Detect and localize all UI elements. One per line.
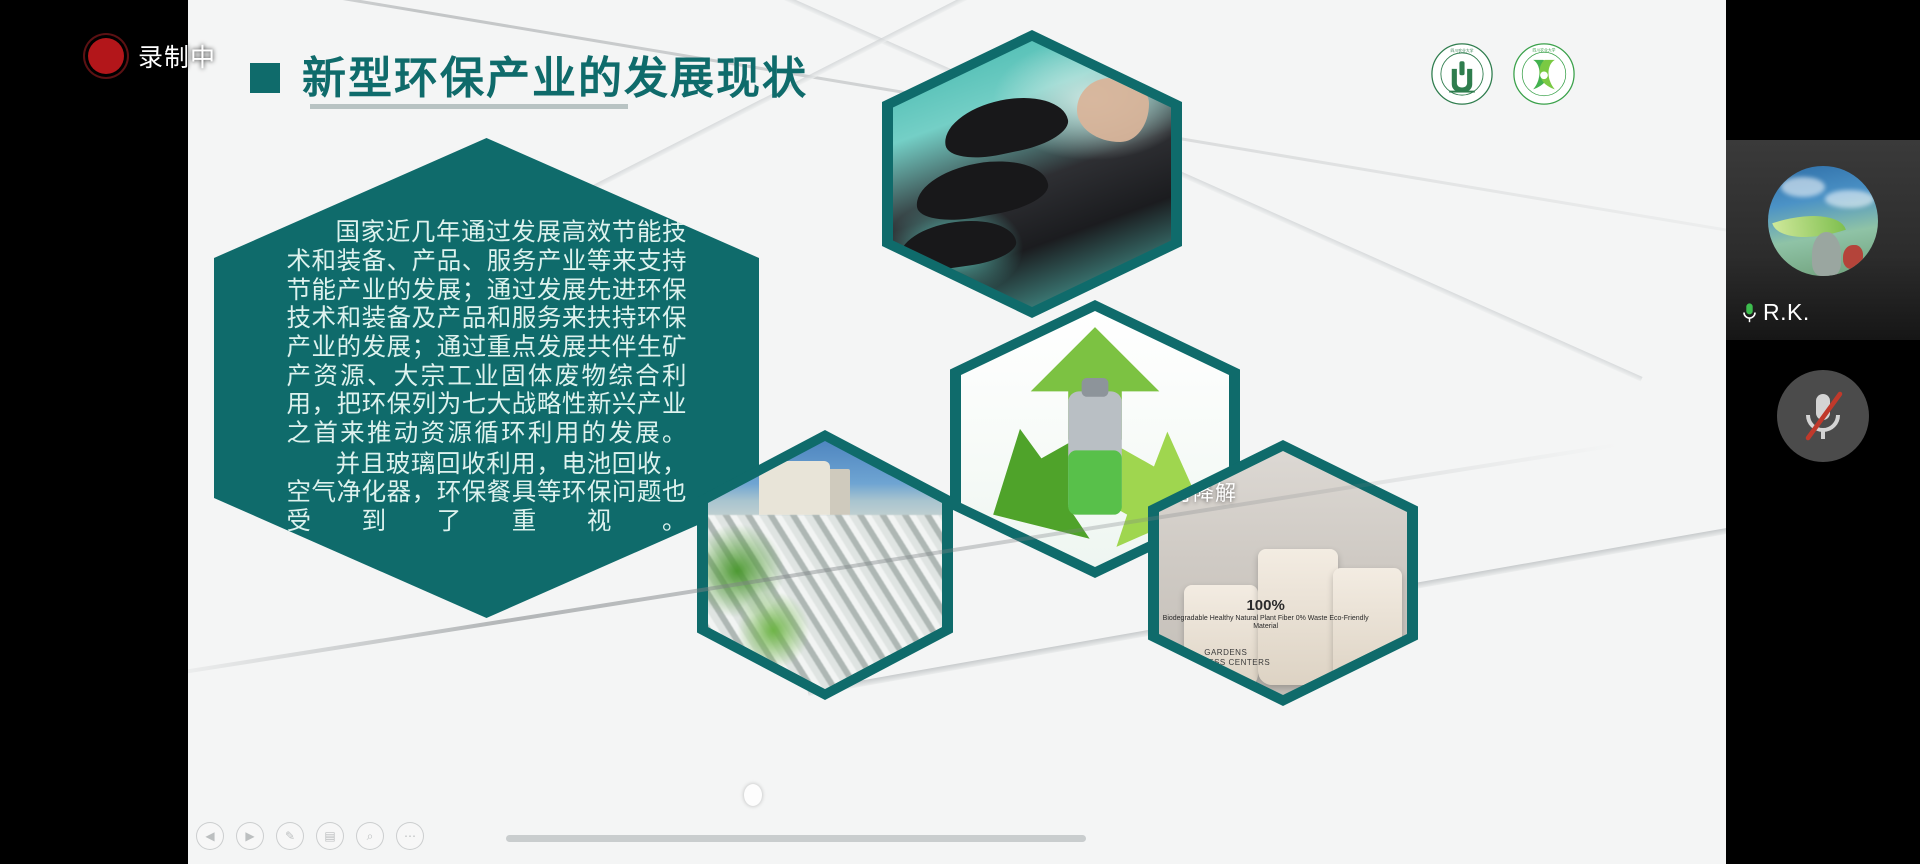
more-options-button[interactable]: ⋯ [396, 822, 424, 850]
mic-muted-icon [1798, 388, 1848, 444]
participant-avatar [1768, 166, 1878, 276]
slide-panel-button[interactable]: ▤ [316, 822, 344, 850]
slide-body-text: 国家近几年通过发展高效节能技术和装备、产品、服务产业等来支持节能产业的发展；通过… [287, 219, 687, 536]
cup-brand-label: GARDENS BUSINESS CENTERS [1181, 648, 1270, 668]
mic-unmuted-icon [1742, 302, 1757, 324]
participant-name-row: R.K. [1742, 299, 1810, 326]
recording-indicator: 录制中 [88, 38, 216, 74]
slide-text-hexagon: 国家近几年通过发展高效节能技术和装备、产品、服务产业等来支持节能产业的发展；通过… [214, 138, 759, 618]
university-logos: 四川农业大学 四川农业大学 [1430, 42, 1576, 106]
shared-bikes-photo [893, 41, 1171, 307]
play-button[interactable]: ▶ [236, 822, 264, 850]
biodegradable-cups-photo: 100% Biodegradable Healthy Natural Plant… [1159, 451, 1407, 695]
glass-recycling-photo-hexagon [697, 430, 953, 700]
university-logo-1-icon: 四川农业大学 [1430, 42, 1494, 106]
participant-tile[interactable]: R.K. [1726, 140, 1920, 340]
record-dot-icon [88, 38, 124, 74]
svg-text:四川农业大学: 四川农业大学 [1533, 48, 1556, 53]
slide-paragraph: 国家近几年通过发展高效节能技术和装备、产品、服务产业等来支持节能产业的发展；通过… [287, 219, 687, 448]
slide-title: 新型环保产业的发展现状 [302, 42, 808, 106]
biodegradable-cups-photo-hexagon: 100% Biodegradable Healthy Natural Plant… [1148, 440, 1418, 706]
shared-bikes-photo-hexagon [882, 30, 1182, 318]
zoom-screen-share-window: 录制中 新型环保产业的发展现状 四川农业大学 [0, 0, 1920, 864]
recording-label: 录制中 [138, 38, 216, 74]
university-logo-2-icon: 四川农业大学 [1512, 42, 1576, 106]
slide-title-row: 新型环保产业的发展现状 [250, 42, 808, 106]
slide-progress-marker [744, 784, 762, 806]
pen-tool-button[interactable]: ✎ [276, 822, 304, 850]
presentation-slide: 新型环保产业的发展现状 四川农业大学 四川农业大学 [188, 0, 1726, 864]
biodegradable-caption: 可降解 [1171, 477, 1237, 507]
participant-name: R.K. [1763, 299, 1810, 326]
previous-slide-button[interactable]: ◀ [196, 822, 224, 850]
video-rail: R.K. [1726, 0, 1920, 864]
zoom-button[interactable]: ⌕ [356, 822, 384, 850]
slide-paragraph: 并且玻璃回收利用，电池回收，空气净化器，环保餐具等环保问题也受到了重视。 [287, 451, 687, 537]
cup-percent-label: 100% Biodegradable Healthy Natural Plant… [1159, 597, 1372, 630]
svg-text:四川农业大学: 四川农业大学 [1451, 48, 1474, 53]
title-underline [310, 104, 628, 109]
presentation-controls[interactable]: ◀ ▶ ✎ ▤ ⌕ ⋯ [196, 822, 424, 850]
slide-progress-bar[interactable] [506, 835, 1086, 842]
glass-recycling-photo [708, 441, 942, 689]
title-bullet-square-icon [250, 63, 280, 93]
mute-toggle-button[interactable] [1777, 370, 1869, 462]
